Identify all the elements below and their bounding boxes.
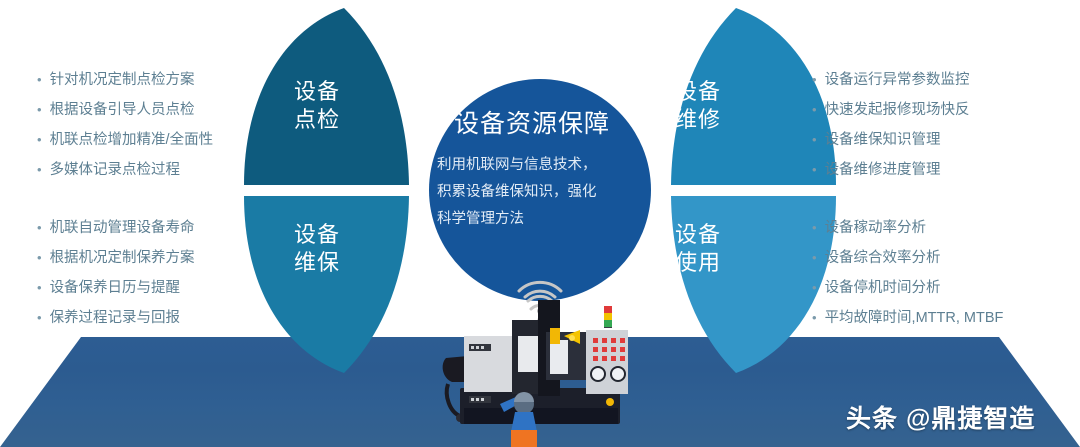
bullet-dot-icon: • (37, 251, 42, 264)
list-item: •平均故障时间,MTTR, MTBF (812, 303, 1003, 333)
bullet-dot-icon: • (812, 251, 817, 264)
list-item: •机联自动管理设备寿命 (37, 213, 195, 243)
bullet-dot-icon: • (812, 133, 817, 146)
machine-cable (447, 384, 460, 416)
machine-spindle (550, 328, 560, 344)
list-item-label: 保养过程记录与回报 (50, 303, 181, 333)
petal-shape-top-left[interactable] (244, 8, 409, 185)
list-item: •针对机况定制点检方案 (37, 65, 213, 95)
machine-dial-right (611, 367, 625, 381)
list-item: •设备稼动率分析 (812, 213, 1003, 243)
machine-door-window (518, 336, 540, 372)
list-item: •保养过程记录与回报 (37, 303, 195, 333)
machine-inner-panel (550, 340, 568, 374)
bullet-dot-icon: • (812, 103, 817, 116)
bullet-dot-icon: • (37, 311, 42, 324)
bullet-dot-icon: • (812, 311, 817, 324)
bullet-dot-icon: • (812, 221, 817, 234)
list-item-label: 根据设备引导人员点检 (50, 95, 195, 125)
operator-legs (511, 430, 537, 447)
list-item: •设备运行异常参数监控 (812, 65, 970, 95)
list-item: •根据机况定制保养方案 (37, 243, 195, 273)
bullet-list-top-left: •针对机况定制点检方案•根据设备引导人员点检•机联点检增加精准/全面性•多媒体记… (37, 65, 213, 185)
list-item-label: 平均故障时间,MTTR, MTBF (825, 303, 1004, 333)
bullet-dot-icon: • (37, 103, 42, 116)
bullet-dot-icon: • (37, 163, 42, 176)
list-item-label: 针对机况定制点检方案 (50, 65, 195, 95)
list-item: •快速发起报修现场快反 (812, 95, 970, 125)
list-item-label: 设备维修进度管理 (825, 155, 941, 185)
bullet-dot-icon: • (37, 221, 42, 234)
list-item-label: 设备停机时间分析 (825, 273, 941, 303)
bullet-dot-icon: • (812, 73, 817, 86)
hub-description: 利用机联网与信息技术，积累设备维保知识，强化科学管理方法 (437, 152, 609, 232)
petal-shape-bottom-left[interactable] (244, 196, 409, 373)
list-item: •设备维保知识管理 (812, 125, 970, 155)
list-item: •多媒体记录点检过程 (37, 155, 213, 185)
list-item-label: 多媒体记录点检过程 (50, 155, 181, 185)
list-item-label: 快速发起报修现场快反 (825, 95, 970, 125)
bullet-list-bottom-left: •机联自动管理设备寿命•根据机况定制保养方案•设备保养日历与提醒•保养过程记录与… (37, 213, 195, 333)
list-item-label: 机联点检增加精准/全面性 (50, 125, 214, 155)
bullet-dot-icon: • (37, 73, 42, 86)
list-item-label: 设备运行异常参数监控 (825, 65, 970, 95)
hub-title: 设备资源保障 (432, 104, 632, 140)
list-item-label: 根据机况定制保养方案 (50, 243, 195, 273)
list-item: •根据设备引导人员点检 (37, 95, 213, 125)
bullet-dot-icon: • (37, 133, 42, 146)
cnc-machine-illustration (438, 292, 648, 447)
bullet-dot-icon: • (37, 281, 42, 294)
list-item: •设备停机时间分析 (812, 273, 1003, 303)
machine-dial-left (591, 367, 605, 381)
machine-base-shadow (464, 408, 618, 424)
list-item: •设备维修进度管理 (812, 155, 970, 185)
bullet-dot-icon: • (812, 281, 817, 294)
list-item-label: 设备稼动率分析 (825, 213, 927, 243)
list-item-label: 机联自动管理设备寿命 (50, 213, 195, 243)
infographic-canvas: 设备 点检 设备 维保 设备 维修 设备 使用 设备资源保障 利用机联网与信息技… (0, 0, 1080, 447)
machine-indicator (606, 398, 614, 406)
bullet-list-bottom-right: •设备稼动率分析•设备综合效率分析•设备停机时间分析•平均故障时间,MTTR, … (812, 213, 1003, 333)
watermark-logo: 头条 @鼎捷智造 (846, 399, 1035, 435)
list-item: •设备保养日历与提醒 (37, 273, 195, 303)
operator-torso (511, 412, 537, 432)
bullet-list-top-right: •设备运行异常参数监控•快速发起报修现场快反•设备维保知识管理•设备维修进度管理 (812, 65, 970, 185)
list-item-label: 设备综合效率分析 (825, 243, 941, 273)
bullet-dot-icon: • (812, 163, 817, 176)
list-item: •设备综合效率分析 (812, 243, 1003, 273)
list-item-label: 设备保养日历与提醒 (50, 273, 181, 303)
list-item: •机联点检增加精准/全面性 (37, 125, 213, 155)
list-item-label: 设备维保知识管理 (825, 125, 941, 155)
